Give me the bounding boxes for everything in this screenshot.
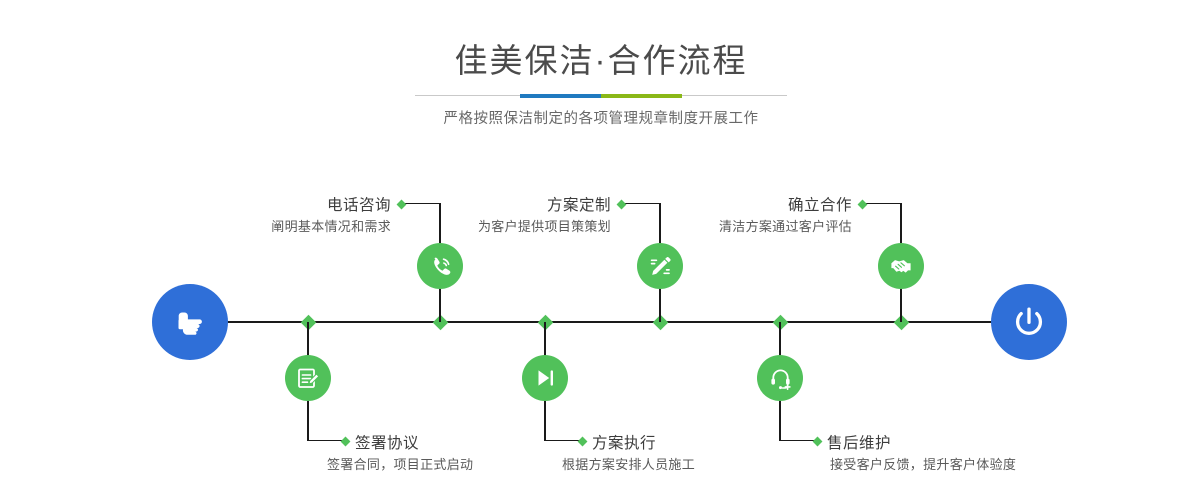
connector-tip-4 [617, 199, 627, 209]
connector-arm-5 [780, 440, 816, 441]
pencil-plan-icon [647, 253, 674, 280]
header: 佳美保洁·合作流程 [0, 0, 1202, 77]
step-desc-1: 签署合同，项目正式启动 [327, 454, 473, 473]
step-desc-4: 为客户提供项目策策划 [431, 216, 611, 235]
headset-support-icon [767, 365, 794, 392]
step-title-3: 方案执行 [592, 431, 656, 453]
connector-riser-6 [900, 203, 901, 243]
connector-tip-1 [341, 436, 351, 446]
connector-arm-2 [404, 203, 441, 204]
connector-arm-4 [624, 203, 661, 204]
handshake-icon [888, 253, 915, 280]
title-divider [415, 94, 787, 98]
connector-tip-2 [397, 199, 407, 209]
step-node-1[interactable] [285, 355, 331, 401]
step-desc-2: 阐明基本情况和需求 [211, 216, 391, 235]
play-execute-icon [532, 365, 558, 391]
step-node-5[interactable] [757, 355, 803, 401]
connector-arm-6 [865, 203, 902, 204]
connector-tip-5 [813, 436, 823, 446]
step-node-2[interactable] [417, 243, 463, 289]
timeline-start-marker [152, 284, 228, 360]
step-node-4[interactable] [637, 243, 683, 289]
step-desc-5: 接受客户反馈，提升客户体验度 [830, 454, 1016, 473]
connector-arm-1 [308, 440, 344, 441]
connector-riser-1 [307, 401, 308, 441]
flow-infographic: 佳美保洁·合作流程 严格按照保洁制定的各项管理规章制度开展工作 [0, 0, 1202, 502]
phone-call-icon [427, 253, 454, 280]
step-desc-3: 根据方案安排人员施工 [562, 454, 695, 473]
step-node-6[interactable] [878, 243, 924, 289]
connector-arm-3 [545, 440, 581, 441]
document-edit-icon [295, 365, 321, 391]
connector-riser-3 [544, 401, 545, 441]
page-title: 佳美保洁·合作流程 [0, 0, 1202, 77]
step-node-3[interactable] [522, 355, 568, 401]
connector-tip-3 [578, 436, 588, 446]
divider-green-segment [601, 94, 682, 98]
connector-riser-4 [659, 203, 660, 243]
connector-riser-5 [779, 401, 780, 441]
step-title-1: 签署协议 [355, 431, 419, 453]
step-title-2: 电话咨询 [271, 193, 391, 215]
step-desc-6: 清洁方案通过客户评估 [672, 216, 852, 235]
page-subtitle: 严格按照保洁制定的各项管理规章制度开展工作 [0, 107, 1202, 128]
connector-tip-6 [858, 199, 868, 209]
step-title-4: 方案定制 [491, 193, 611, 215]
hand-pointing-icon [170, 302, 210, 342]
step-title-5: 售后维护 [827, 431, 891, 453]
power-icon [1008, 301, 1050, 343]
timeline-end-marker [991, 284, 1067, 360]
step-title-6: 确立合作 [732, 193, 852, 215]
divider-blue-segment [520, 94, 601, 98]
